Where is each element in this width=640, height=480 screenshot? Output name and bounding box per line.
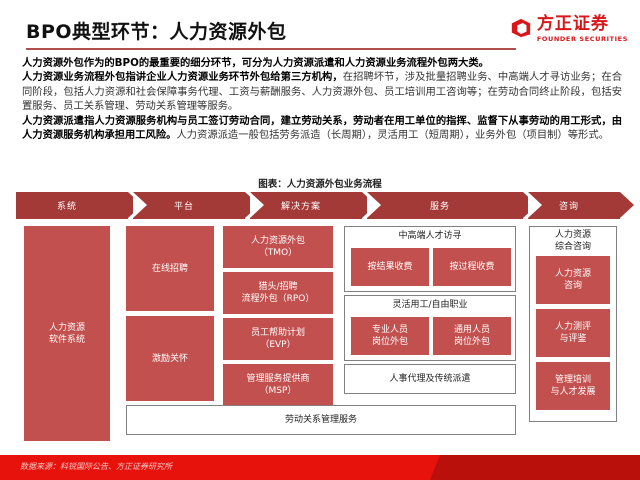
consulting-training-label: 管理培训 与人才发展 bbox=[550, 374, 595, 398]
platform-online-recruit-label: 在线招聘 bbox=[152, 263, 188, 275]
platform-incentive-care-box: 激励关怀 bbox=[126, 316, 214, 401]
slide-header: BPO典型环节：人力资源外包 方正证券 FOUNDER SECURITIES bbox=[0, 0, 640, 52]
title-underline bbox=[26, 48, 516, 50]
logo-text-en: FOUNDER SECURITIES bbox=[537, 36, 628, 43]
service-chip-general-outsourcing: 通用人员 岗位外包 bbox=[433, 317, 511, 355]
platform-incentive-care-label: 激励关怀 bbox=[152, 353, 188, 365]
paragraph-2-bold: 人力资源业务流程外包指讲企业人力资源业务环节外包给第三方机构， bbox=[22, 71, 343, 83]
consulting-assessment-box: 人力测评 与评鉴 bbox=[536, 309, 610, 357]
founder-diamond-icon bbox=[510, 17, 532, 39]
consulting-hr-advisory-box: 人力资源 咨询 bbox=[536, 256, 610, 304]
system-software-box: 人力资源 软件系统 bbox=[24, 226, 110, 441]
consulting-header: 人力资源 综合咨询 bbox=[529, 228, 617, 254]
stage-arrow-consulting-label: 咨询 bbox=[559, 199, 579, 212]
stage-arrow-platform-label: 平台 bbox=[174, 199, 194, 212]
solution-evp-box: 员工帮助计划 （EVP） bbox=[223, 318, 333, 360]
stage-arrow-solutions-label: 解决方案 bbox=[281, 199, 321, 212]
service-chip-fee-by-result: 按结果收费 bbox=[351, 248, 429, 286]
footer-source-text: 数据来源：科锐国际公告、方正证券研究所 bbox=[20, 461, 172, 472]
body-paragraphs: 人力资源外包作为的BPO的最重要的细分环节，可分为人力资源派遣和人力资源业务流程… bbox=[22, 56, 622, 142]
stage-arrow-platform: 平台 bbox=[133, 192, 245, 219]
service-chip-fee-by-result-label: 按结果收费 bbox=[367, 261, 412, 273]
platform-online-recruit-box: 在线招聘 bbox=[126, 226, 214, 311]
service-group-1-header: 中高端人才访寻 bbox=[344, 228, 516, 244]
stage-arrow-solutions: 解决方案 bbox=[250, 192, 362, 219]
process-diagram: 系统 平台 解决方案 服务 咨询 人力资源 软件系统 在线招聘 激励关怀 人力资… bbox=[16, 192, 624, 444]
slide-canvas: BPO典型环节：人力资源外包 方正证券 FOUNDER SECURITIES 人… bbox=[0, 0, 640, 480]
solution-rpo-label: 猎头/招聘 流程外包（RPO） bbox=[242, 281, 315, 305]
service-chip-general-outsourcing-label: 通用人员 岗位外包 bbox=[454, 324, 490, 348]
slide-footer: 数据来源：科锐国际公告、方正证券研究所 bbox=[0, 455, 640, 480]
page-title: BPO典型环节：人力资源外包 bbox=[26, 17, 287, 44]
consulting-training-box: 管理培训 与人才发展 bbox=[536, 362, 610, 410]
service-chip-fee-by-process: 按过程收费 bbox=[433, 248, 511, 286]
service-group-3-header: 人事代理及传统派遣 bbox=[344, 364, 516, 394]
service-chip-professional-outsourcing: 专业人员 岗位外包 bbox=[351, 317, 429, 355]
paragraph-2: 人力资源业务流程外包指讲企业人力资源业务环节外包给第三方机构，在招聘坏节，涉及批… bbox=[22, 70, 622, 113]
service-chip-professional-outsourcing-label: 专业人员 岗位外包 bbox=[372, 324, 408, 348]
service-group-2-header: 灵活用工/自由职业 bbox=[344, 297, 516, 313]
labor-relations-bar-label: 劳动关系管理服务 bbox=[126, 405, 516, 435]
consulting-hr-advisory-label: 人力资源 咨询 bbox=[555, 268, 591, 292]
chart-title: 图表：人力资源外包业务流程 bbox=[0, 176, 640, 190]
paragraph-1-bold: 人力资源外包作为的BPO的最重要的细分环节，可分为人力资源派遣和人力资源业务流程… bbox=[22, 57, 489, 69]
stage-arrow-services: 服务 bbox=[367, 192, 523, 219]
solution-msp-box: 管理服务提供商 （MSP） bbox=[223, 364, 333, 406]
solution-tmo-label: 人力资源外包 （TMO） bbox=[251, 235, 305, 259]
paragraph-3: 人力资源派遣指人力资源服务机构与员工签订劳动合同，建立劳动关系，劳动者在用工单位… bbox=[22, 114, 622, 143]
solution-evp-label: 员工帮助计划 （EVP） bbox=[251, 327, 305, 351]
paragraph-1: 人力资源外包作为的BPO的最重要的细分环节，可分为人力资源派遣和人力资源业务流程… bbox=[22, 56, 622, 70]
system-software-label: 人力资源 软件系统 bbox=[49, 322, 85, 346]
logo-text-cn: 方正证券 bbox=[537, 16, 628, 33]
stage-arrow-band: 系统 平台 解决方案 服务 咨询 bbox=[16, 192, 624, 219]
stage-arrow-system-label: 系统 bbox=[57, 199, 77, 212]
paragraph-3-rest: 人力资源派造一般包括劳务派造（长周期），灵活用工（短周期），业务外包（项目制）等… bbox=[176, 129, 608, 141]
solution-msp-label: 管理服务提供商 （MSP） bbox=[246, 373, 309, 397]
stage-arrow-services-label: 服务 bbox=[430, 199, 450, 212]
brand-logo: 方正证券 FOUNDER SECURITIES bbox=[510, 16, 628, 46]
stage-arrow-system: 系统 bbox=[16, 192, 128, 219]
solution-tmo-box: 人力资源外包 （TMO） bbox=[223, 226, 333, 268]
solution-rpo-box: 猎头/招聘 流程外包（RPO） bbox=[223, 272, 333, 314]
stage-arrow-consulting: 咨询 bbox=[528, 192, 620, 219]
service-chip-fee-by-process-label: 按过程收费 bbox=[449, 261, 494, 273]
consulting-assessment-label: 人力测评 与评鉴 bbox=[555, 321, 591, 345]
footer-accent-shape bbox=[430, 455, 640, 480]
